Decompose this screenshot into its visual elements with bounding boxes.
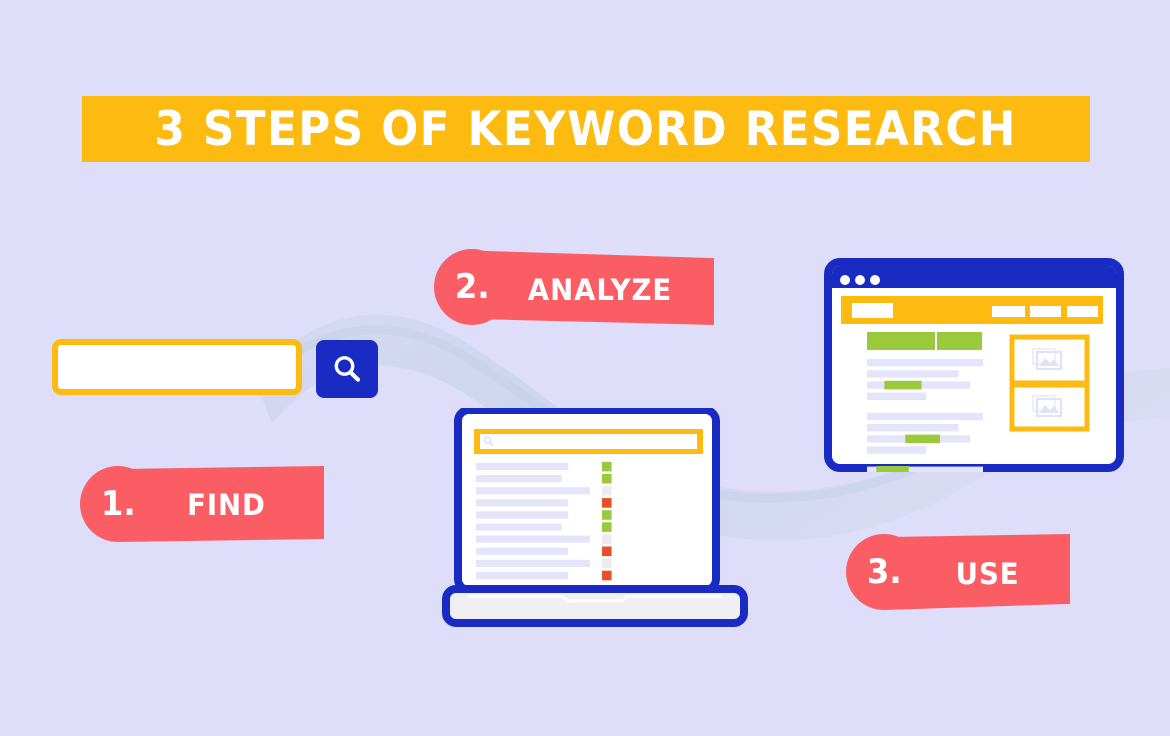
badge-label: FIND xyxy=(187,491,266,520)
laptop-result-line xyxy=(476,560,590,567)
keyword-status-chip-green xyxy=(602,462,612,472)
keyword-status-chip-red xyxy=(602,571,612,581)
keyword-status-chip-gray xyxy=(602,486,612,496)
page-title-banner: 3 STEPS OF KEYWORD RESEARCH xyxy=(82,96,1090,162)
page-title: 3 STEPS OF KEYWORD RESEARCH xyxy=(155,106,1017,153)
infographic-canvas: 3 STEPS OF KEYWORD RESEARCH 1. FIND 2. A… xyxy=(0,0,1170,736)
browser-window-illustration xyxy=(824,258,1124,472)
laptop-illustration xyxy=(442,408,748,630)
laptop-result-line xyxy=(476,475,562,482)
badge-circle: 3. xyxy=(846,534,922,610)
content-text-line xyxy=(867,393,926,400)
content-text-line xyxy=(867,370,959,377)
keyword-status-chip-green xyxy=(602,522,612,532)
keyword-highlight xyxy=(884,381,921,390)
laptop-result-line xyxy=(476,463,568,470)
badge-circle: 1. xyxy=(80,466,156,542)
keyword-status-chip-red xyxy=(602,547,612,557)
badge-number: 3. xyxy=(867,555,902,589)
laptop-result-line xyxy=(476,487,590,494)
badge-number: 2. xyxy=(455,270,490,304)
laptop-result-line xyxy=(476,572,568,579)
keyword-status-chip-gray xyxy=(602,559,612,569)
nav-menu-item-3[interactable] xyxy=(1067,306,1098,317)
nav-menu-item-2[interactable] xyxy=(1030,306,1061,317)
nav-menu-item-1[interactable] xyxy=(992,306,1025,317)
keyword-status-chip-green xyxy=(602,510,612,520)
content-text-line xyxy=(867,424,959,431)
laptop-result-line xyxy=(476,499,568,506)
keyword-status-chip-red xyxy=(602,498,612,508)
search-icon xyxy=(330,352,364,386)
laptop-result-line xyxy=(476,524,562,531)
laptop-search-input[interactable] xyxy=(480,434,697,449)
window-dot-3[interactable] xyxy=(870,275,880,285)
badge-label: ANALYZE xyxy=(528,276,672,305)
laptop-base xyxy=(446,589,744,623)
keyword-highlight xyxy=(876,466,908,472)
step-badge-use: 3. USE xyxy=(846,534,1070,610)
search-input[interactable] xyxy=(52,339,302,395)
laptop-result-line xyxy=(476,548,568,555)
badge-label: USE xyxy=(956,560,1020,589)
keyword-highlight xyxy=(905,435,940,444)
badge-number: 1. xyxy=(101,487,136,521)
search-button[interactable] xyxy=(316,340,378,398)
step-badge-analyze: 2. ANALYZE xyxy=(434,249,714,325)
content-heading-block-2 xyxy=(937,332,982,350)
step-badge-find: 1. FIND xyxy=(80,466,324,542)
keyword-status-chip-gray xyxy=(602,534,612,544)
content-text-line xyxy=(867,446,926,453)
site-logo-block[interactable] xyxy=(852,303,893,318)
content-text-line xyxy=(867,359,983,366)
window-dot-1[interactable] xyxy=(840,275,850,285)
keyword-status-chip-green xyxy=(602,474,612,484)
content-text-line xyxy=(867,413,983,420)
laptop-result-line xyxy=(476,536,590,543)
badge-circle: 2. xyxy=(434,249,510,325)
content-heading-block-1 xyxy=(867,332,935,350)
laptop-result-line xyxy=(476,511,568,518)
window-dot-2[interactable] xyxy=(855,275,865,285)
